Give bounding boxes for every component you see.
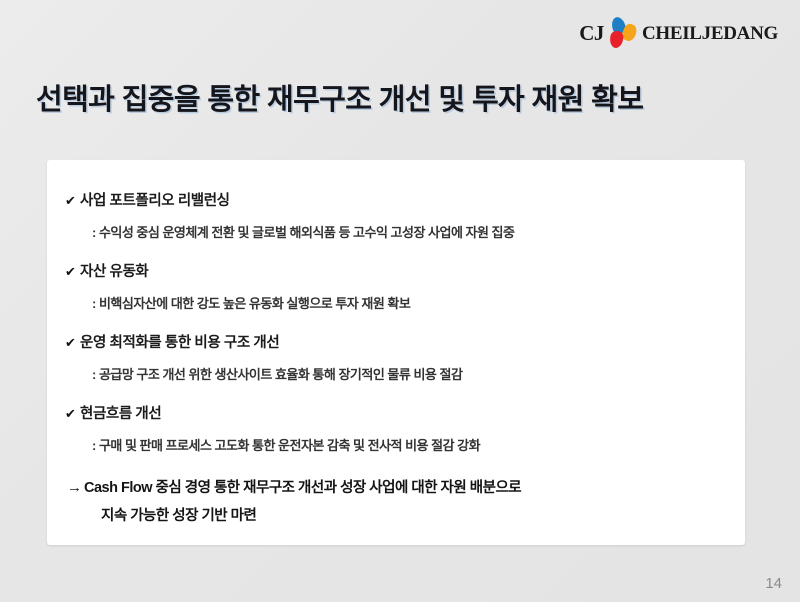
slide-canvas: CJ CHEILJEDANG 선택과 집중을 통한 재무구조 개선 및 투자 재… (0, 0, 800, 602)
block-heading-2: ✔ 자산 유동화 (65, 255, 715, 285)
block-heading-1: ✔ 사업 포트폴리오 리밸런싱 (65, 184, 715, 214)
block-heading-text-1: 사업 포트폴리오 리밸런싱 (80, 189, 230, 210)
page-title: 선택과 집중을 통한 재무구조 개선 및 투자 재원 확보 (36, 76, 643, 118)
conclusion-statement: → Cash Flow 중심 경영 통한 재무구조 개선과 성장 사업에 대한 … (65, 476, 715, 525)
content-block-1: ✔ 사업 포트폴리오 리밸런싱 : 수익성 중심 운영체계 전환 및 글로벌 해… (65, 184, 715, 249)
conclusion-line-1: → Cash Flow 중심 경영 통한 재무구조 개선과 성장 사업에 대한 … (67, 476, 715, 497)
cj-cheiljedang-logo: CJ CHEILJEDANG (579, 16, 778, 50)
content-block-2: ✔ 자산 유동화 : 비핵심자산에 대한 강도 높은 유동화 실행으로 투자 재… (65, 255, 715, 320)
block-heading-text-2: 자산 유동화 (80, 260, 148, 281)
petal-red-icon (609, 30, 624, 49)
conclusion-text-2: 지속 가능한 성장 기반 마련 (67, 497, 715, 525)
cj-blossom-icon (605, 16, 639, 50)
content-block-3: ✔ 운영 최적화를 통한 비용 구조 개선 : 공급망 구조 개선 위한 생산사… (65, 326, 715, 391)
check-icon: ✔ (65, 406, 80, 422)
page-number: 14 (765, 575, 782, 592)
content-panel: ✔ 사업 포트폴리오 리밸런싱 : 수익성 중심 운영체계 전환 및 글로벌 해… (47, 160, 745, 545)
logo-brand-name: CHEILJEDANG (642, 24, 778, 43)
block-detail-4: : 구매 및 판매 프로세스 고도화 통한 운전자본 감축 및 전사적 비용 절… (65, 429, 715, 462)
block-heading-text-3: 운영 최적화를 통한 비용 구조 개선 (80, 331, 279, 352)
block-heading-text-4: 현금흐름 개선 (80, 402, 161, 423)
check-icon: ✔ (65, 264, 80, 280)
block-detail-3: : 공급망 구조 개선 위한 생산사이트 효율화 통해 장기적인 물류 비용 절… (65, 358, 715, 391)
block-heading-3: ✔ 운영 최적화를 통한 비용 구조 개선 (65, 326, 715, 356)
content-block-4: ✔ 현금흐름 개선 : 구매 및 판매 프로세스 고도화 통한 운전자본 감축 … (65, 397, 715, 462)
conclusion-text-1: Cash Flow 중심 경영 통한 재무구조 개선과 성장 사업에 대한 자원… (84, 476, 521, 497)
block-detail-1: : 수익성 중심 운영체계 전환 및 글로벌 해외식품 등 고수익 고성장 사업… (65, 216, 715, 249)
block-detail-2: : 비핵심자산에 대한 강도 높은 유동화 실행으로 투자 재원 확보 (65, 287, 715, 320)
logo-cj-text: CJ (579, 23, 604, 44)
block-heading-4: ✔ 현금흐름 개선 (65, 397, 715, 427)
check-icon: ✔ (65, 335, 80, 351)
arrow-right-icon: → (67, 479, 84, 496)
check-icon: ✔ (65, 193, 80, 209)
